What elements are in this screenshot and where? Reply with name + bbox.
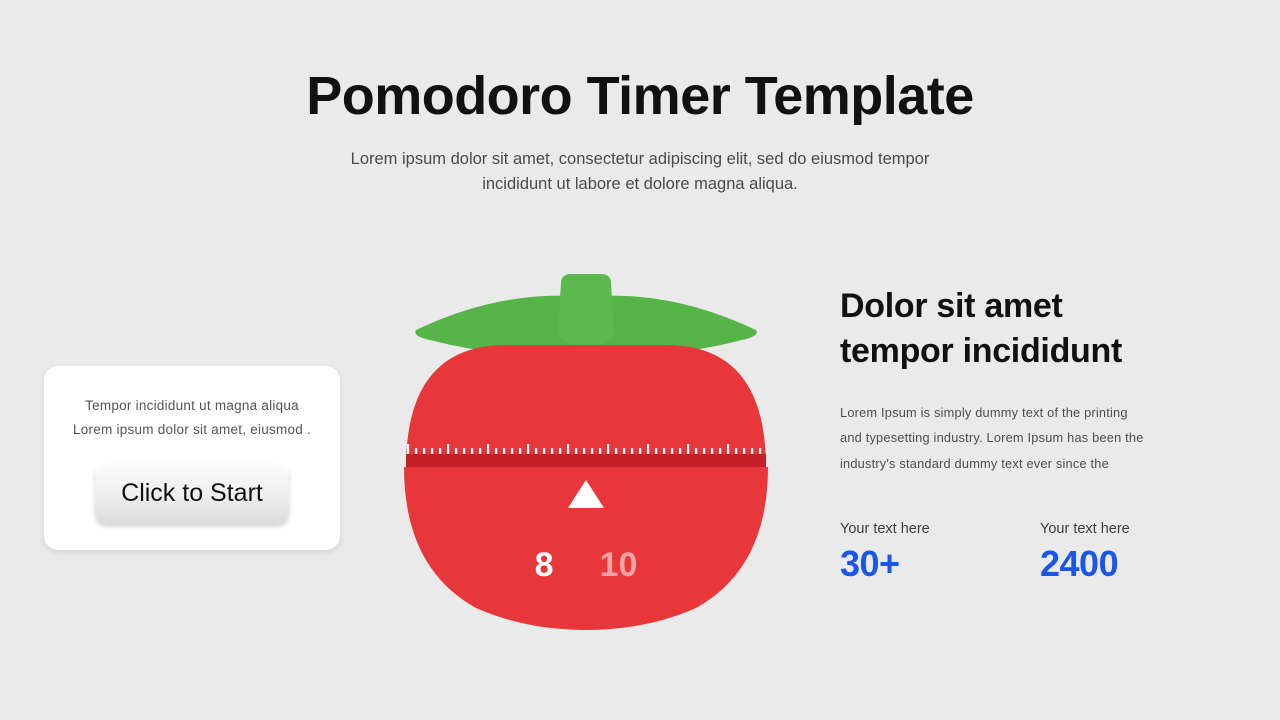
body-line-3: industry's standard dummy text ever sinc… <box>840 451 1200 477</box>
stat-label-1: Your text here <box>840 520 1040 540</box>
header: Pomodoro Timer Template Lorem ipsum dolo… <box>0 68 1280 198</box>
section-heading: Dolor sit amet tempor incididunt <box>840 284 1200 374</box>
card-text-line-1: Tempor incididunt ut magna aliqua <box>85 394 299 418</box>
page-subtitle: Lorem ipsum dolor sit amet, consectetur … <box>0 125 1280 198</box>
subtitle-line-2: incididunt ut labore et dolore magna ali… <box>0 172 1280 198</box>
subtitle-line-1: Lorem ipsum dolor sit amet, consectetur … <box>0 147 1280 173</box>
section-heading-line-1: Dolor sit amet <box>840 284 1200 329</box>
tomato-timer-graphic <box>396 268 776 640</box>
timer-dial-band <box>406 454 766 467</box>
stat-label-2: Your text here <box>1040 520 1200 540</box>
stat-value-2: 2400 <box>1040 540 1200 585</box>
click-to-start-button[interactable]: Click to Start <box>95 462 289 524</box>
page-title: Pomodoro Timer Template <box>0 68 1280 125</box>
section-heading-line-2: tempor incididunt <box>840 329 1200 374</box>
slide-canvas: Pomodoro Timer Template Lorem ipsum dolo… <box>0 0 1280 720</box>
card-text-line-2: Lorem ipsum dolor sit amet, eiusmod . <box>73 418 311 442</box>
section-body-text: Lorem Ipsum is simply dummy text of the … <box>840 374 1200 477</box>
stat-item-2: Your text here 2400 <box>1040 520 1200 585</box>
stats-row: Your text here 30+ Your text here 2400 <box>840 520 1200 585</box>
tomato-timer[interactable]: 810 <box>396 268 776 640</box>
stat-item-1: Your text here 30+ <box>840 520 1040 585</box>
stat-value-1: 30+ <box>840 540 1040 585</box>
body-line-2: and typesetting industry. Lorem Ipsum ha… <box>840 425 1200 451</box>
start-card: Tempor incididunt ut magna aliqua Lorem … <box>44 366 340 550</box>
body-line-1: Lorem Ipsum is simply dummy text of the … <box>840 400 1200 426</box>
right-content: Dolor sit amet tempor incididunt Lorem I… <box>840 284 1200 477</box>
